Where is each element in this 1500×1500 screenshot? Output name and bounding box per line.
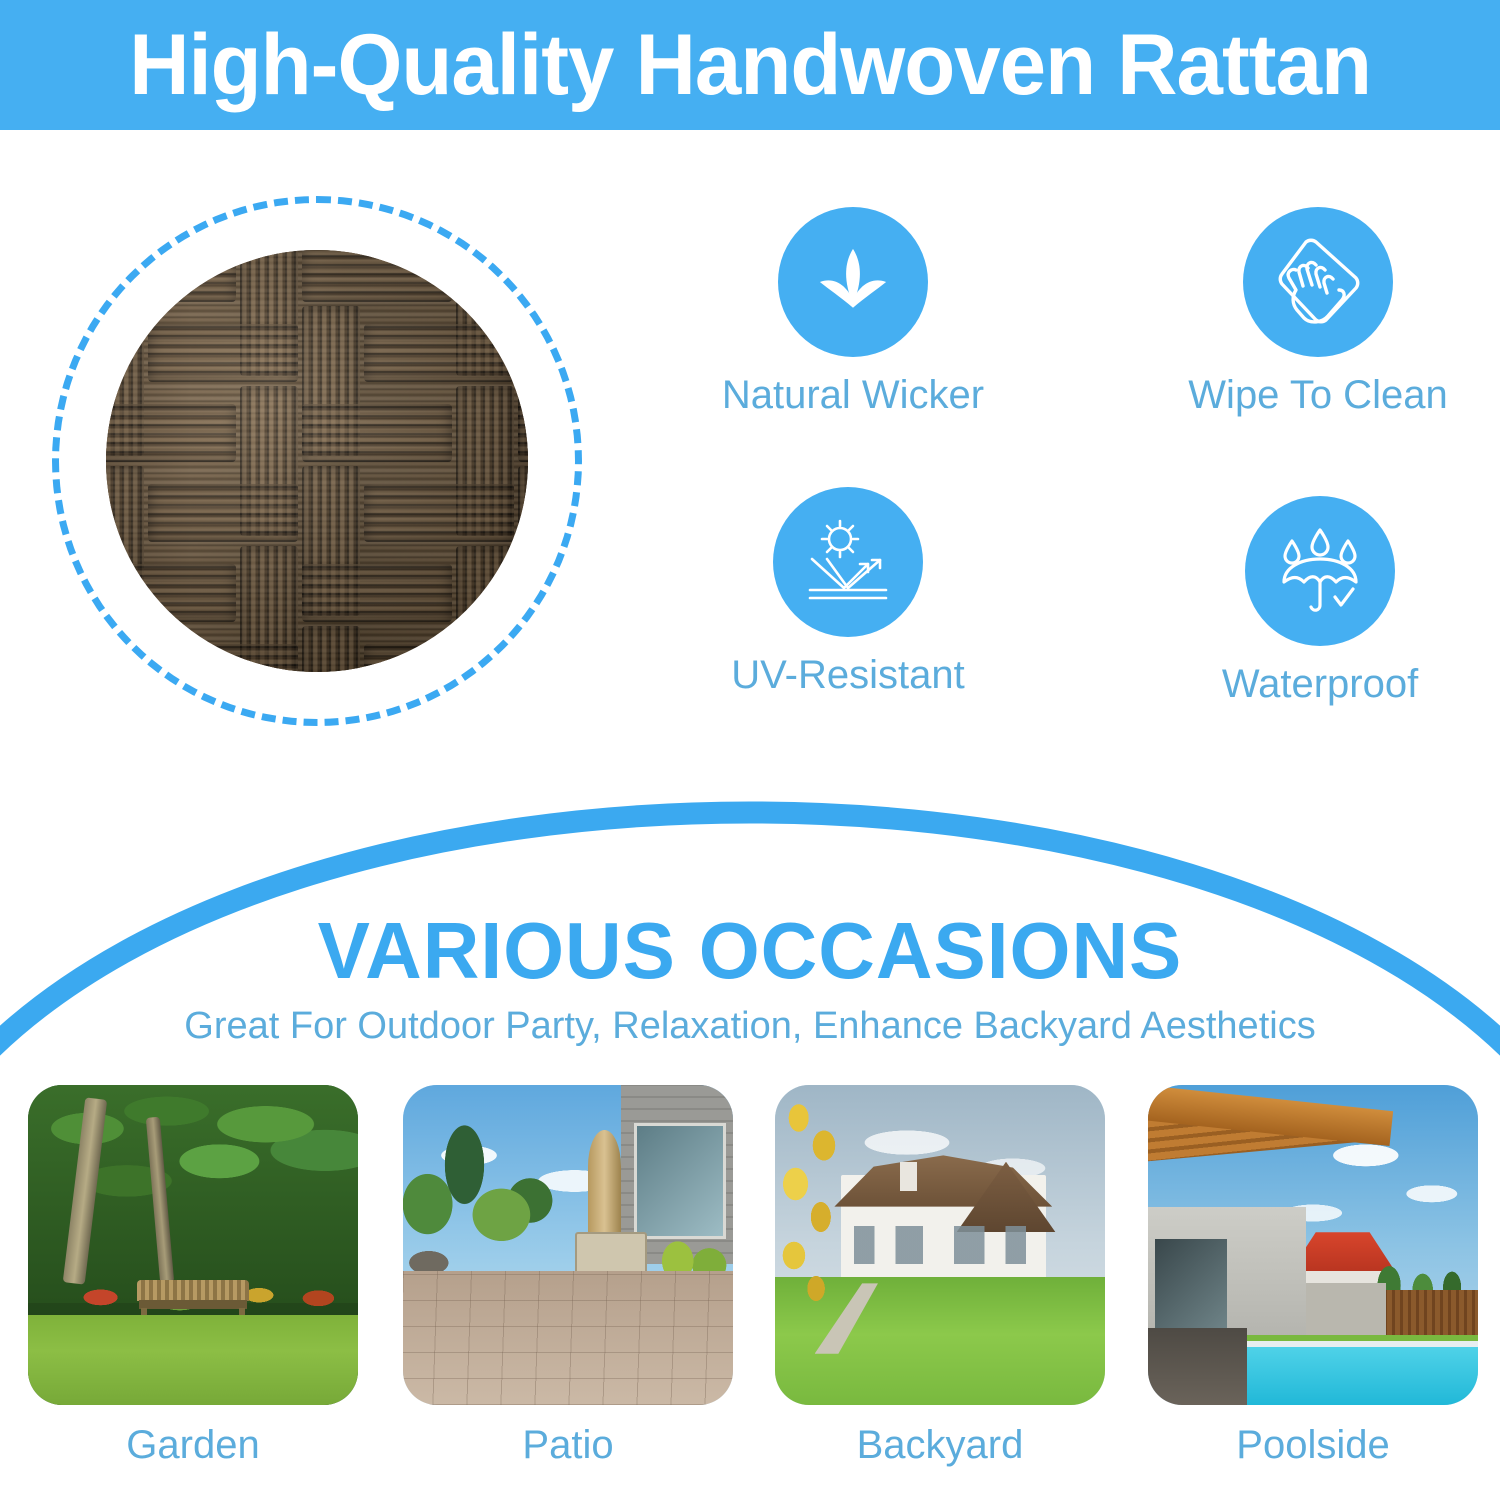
feature-icon-circle <box>773 487 923 637</box>
swimming-pool <box>1227 1341 1478 1405</box>
header-banner: High-Quality Handwoven Rattan <box>0 0 1500 130</box>
feature-icon-circle <box>1243 207 1393 357</box>
occasion-item-garden[interactable]: Garden <box>28 1085 358 1468</box>
occasions-title: VARIOUS OCCASIONS <box>15 905 1485 997</box>
feature-icon-circle <box>1245 496 1395 646</box>
occasion-caption: Patio <box>403 1423 733 1468</box>
occasion-caption: Garden <box>28 1423 358 1468</box>
occasions-subtitle: Great For Outdoor Party, Relaxation, Enh… <box>0 1005 1500 1048</box>
feature-waterproof: Waterproof <box>1170 496 1470 707</box>
feature-natural-wicker: Natural Wicker <box>703 207 1003 418</box>
garden-photo <box>28 1085 358 1405</box>
page-title: High-Quality Handwoven Rattan <box>129 22 1371 108</box>
umbrella-raindrops-check-icon <box>1270 521 1370 621</box>
hand-wiping-cloth-icon <box>1268 232 1368 332</box>
occasion-item-patio[interactable]: Patio <box>403 1085 733 1468</box>
feature-wipe-to-clean: Wipe To Clean <box>1168 207 1468 418</box>
autumn-tree <box>775 1085 854 1360</box>
rattan-weave-photo <box>106 250 528 672</box>
patio-photo <box>403 1085 733 1405</box>
feature-uv-resistant: UV-Resistant <box>698 487 998 698</box>
garden-bench <box>137 1280 249 1318</box>
occasion-caption: Poolside <box>1148 1423 1478 1468</box>
occasion-caption: Backyard <box>775 1423 1105 1468</box>
sun-reflect-icon <box>798 512 898 612</box>
leaf-icon <box>807 236 899 328</box>
rattan-weave-showcase <box>52 196 582 726</box>
occasion-item-backyard[interactable]: Backyard <box>775 1085 1105 1468</box>
feature-label: Natural Wicker <box>703 373 1003 418</box>
occasion-thumbnails: Garden Patio Backy <box>0 1085 1500 1500</box>
feature-icon-circle <box>778 207 928 357</box>
weave-basket-cells <box>106 250 528 672</box>
feature-label: Wipe To Clean <box>1168 373 1468 418</box>
poolside-photo <box>1148 1085 1478 1405</box>
backyard-photo <box>775 1085 1105 1405</box>
occasion-item-poolside[interactable]: Poolside <box>1148 1085 1478 1468</box>
feature-label: Waterproof <box>1170 662 1470 707</box>
feature-label: UV-Resistant <box>698 653 998 698</box>
